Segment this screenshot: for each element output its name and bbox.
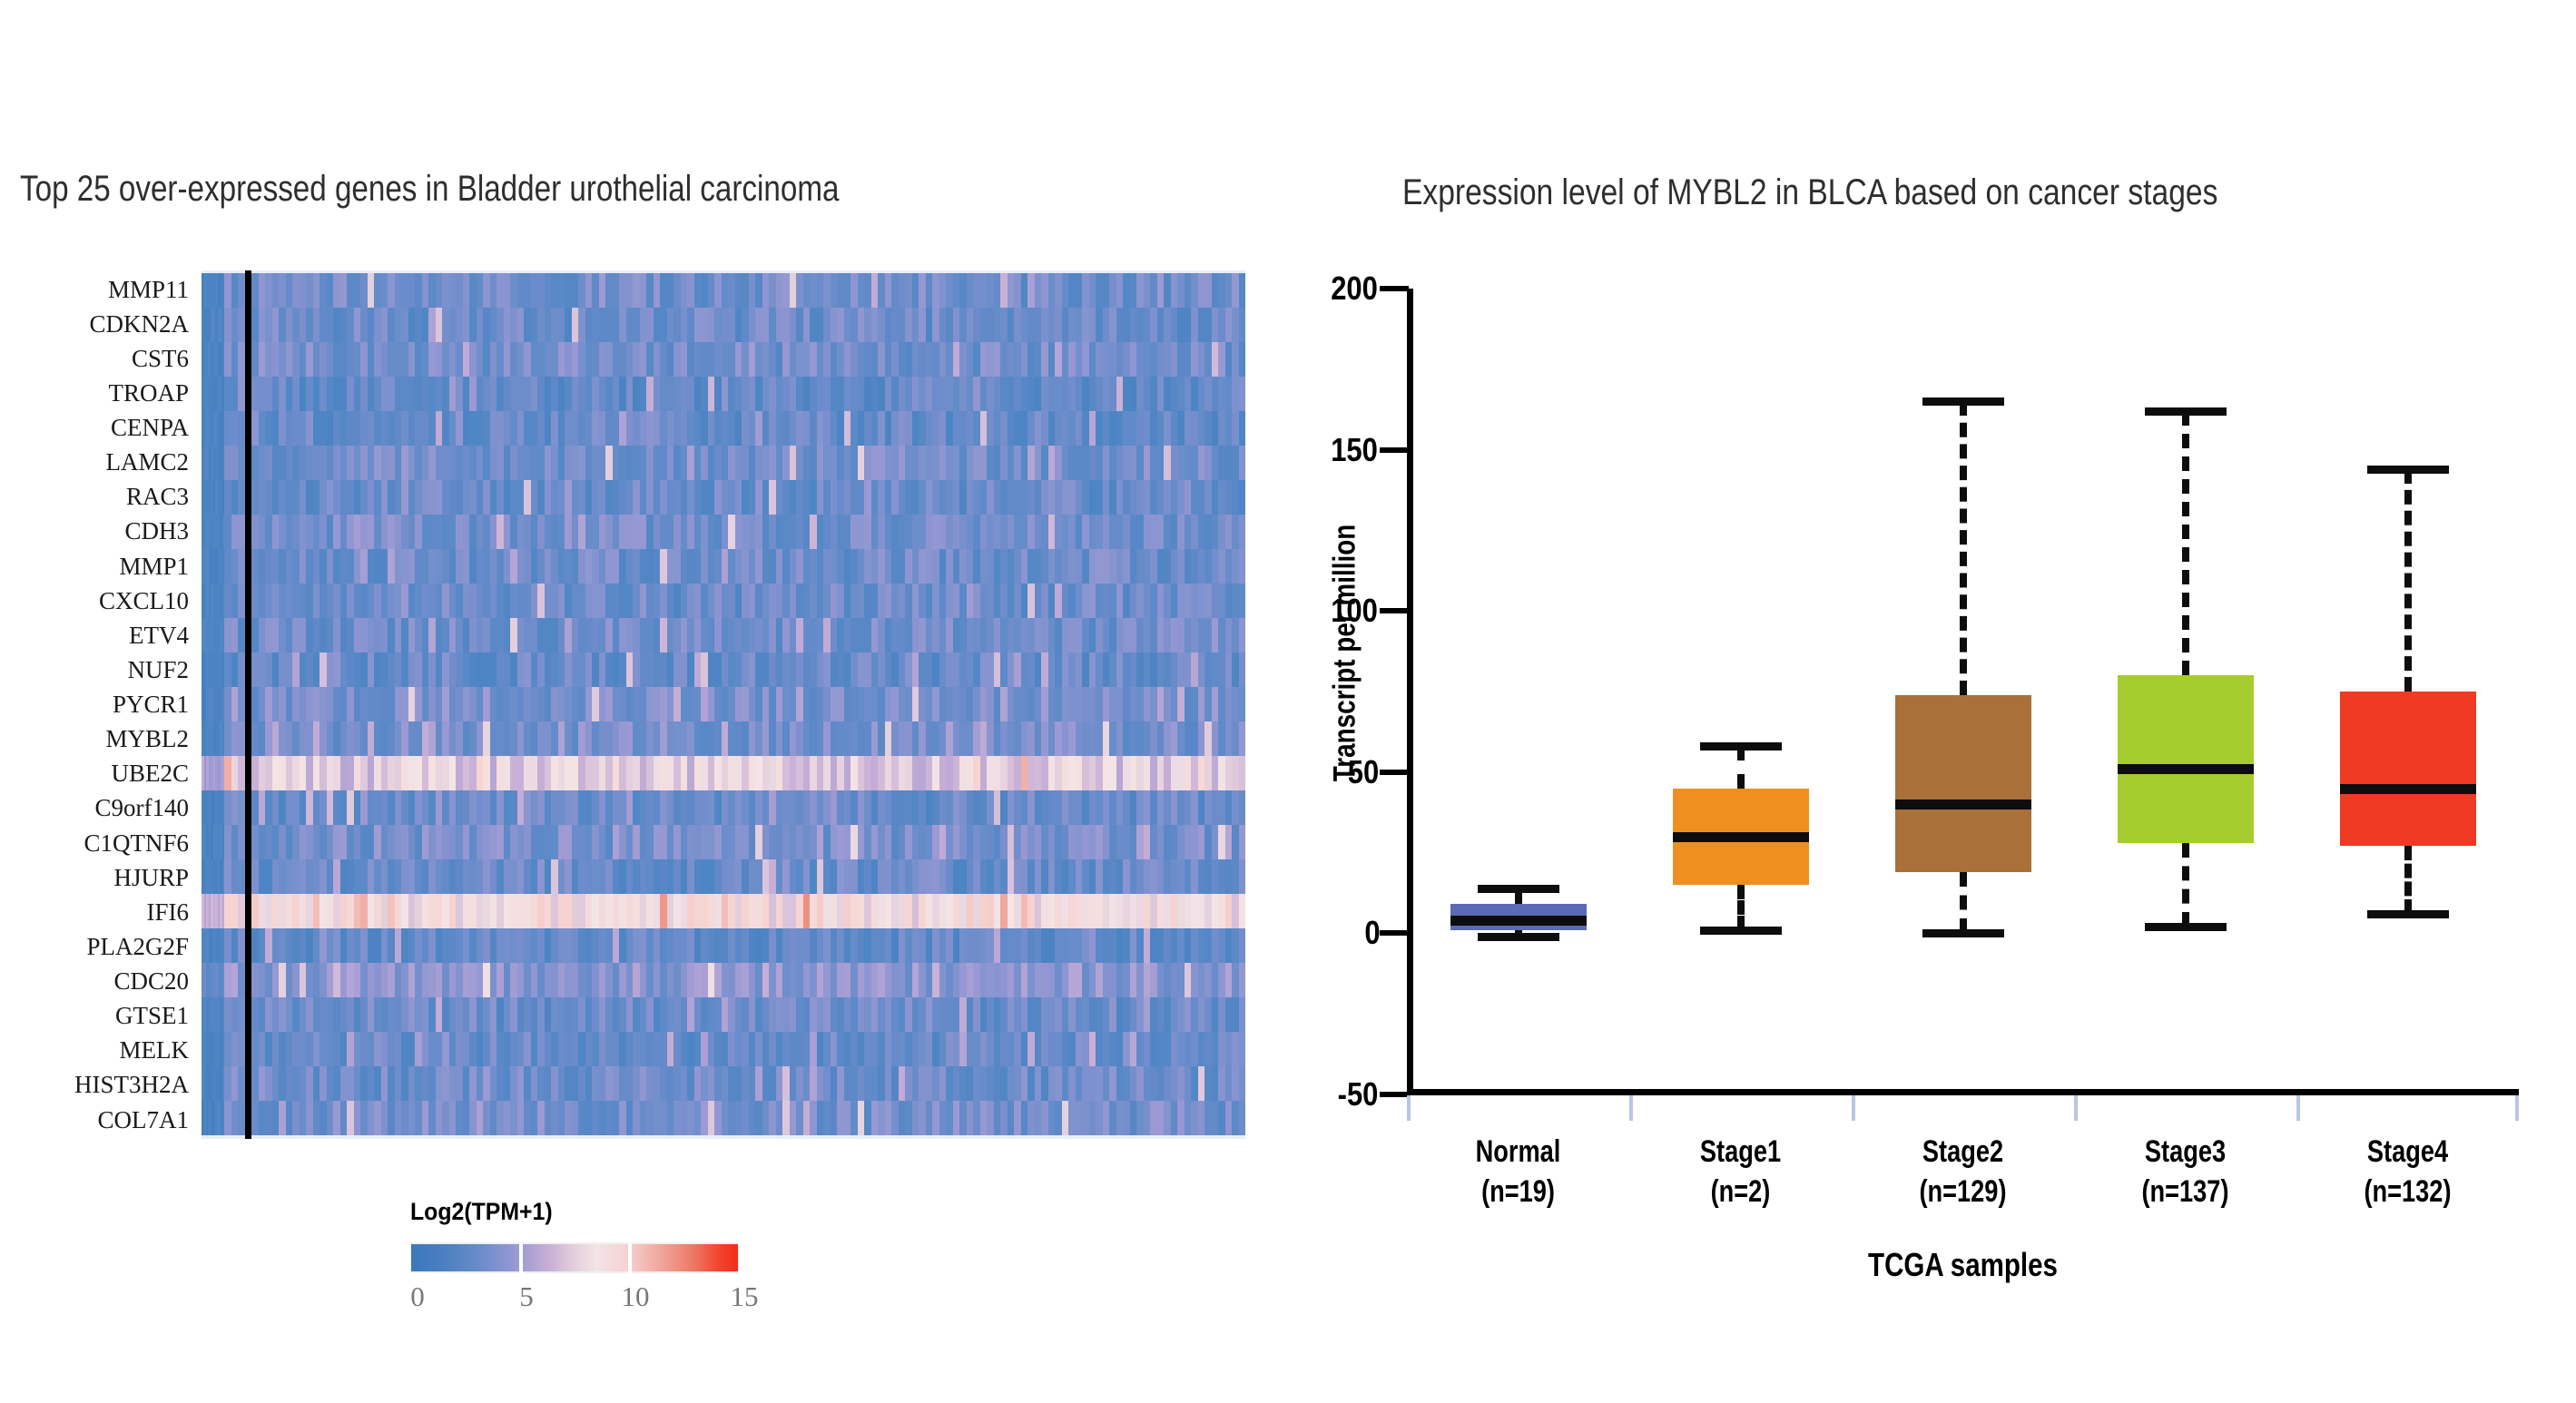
heatmap-cell <box>1000 584 1008 618</box>
heatmap-cell <box>565 584 572 618</box>
heatmap-cell <box>687 480 694 515</box>
heatmap-cell <box>905 928 912 963</box>
heatmap-cell <box>1123 411 1130 446</box>
heatmap-cell <box>531 584 538 618</box>
heatmap-cell <box>572 273 579 308</box>
heatmap-cell <box>694 308 702 342</box>
heatmap-cell <box>238 584 245 618</box>
heatmap-cell <box>946 1066 953 1101</box>
heatmap-cell <box>1136 997 1144 1032</box>
heatmap-cell <box>646 515 654 549</box>
heatmap-cell <box>1218 963 1225 997</box>
heatmap-cell <box>578 997 585 1032</box>
heatmap-cell <box>1218 342 1225 377</box>
heatmap-cell <box>279 515 286 549</box>
heatmap-cell <box>422 1101 429 1135</box>
heatmap-cell <box>272 1032 280 1066</box>
heatmap-cell <box>654 721 661 756</box>
heatmap-cell <box>286 480 293 515</box>
heatmap-cell <box>817 997 824 1032</box>
heatmap-cell <box>456 1101 463 1135</box>
heatmap-cell <box>360 1032 368 1066</box>
heatmap-cell <box>742 515 749 549</box>
heatmap-cell <box>1082 687 1089 721</box>
heatmap-cell <box>231 687 239 721</box>
heatmap-cell <box>980 480 988 515</box>
heatmap-cell <box>1076 515 1083 549</box>
lower-whisker <box>2404 846 2412 914</box>
heatmap-cell <box>912 928 919 963</box>
heatmap-cell <box>980 1066 988 1101</box>
heatmap-cell <box>782 480 790 515</box>
heatmap-cell <box>360 756 368 790</box>
heatmap-cell <box>1136 825 1144 859</box>
heatmap-cell <box>980 1032 988 1066</box>
heatmap-cell <box>1191 825 1198 859</box>
heatmap-cell <box>551 549 558 584</box>
heatmap-cell <box>626 790 634 825</box>
heatmap-cell <box>946 618 953 652</box>
heatmap-cell <box>864 894 871 928</box>
heatmap-cell <box>436 790 443 825</box>
heatmap-cell <box>1096 756 1103 790</box>
heatmap-cell <box>810 928 817 963</box>
heatmap-cell <box>1014 584 1021 618</box>
heatmap-cell <box>790 584 797 618</box>
heatmap-cell <box>891 446 899 480</box>
heatmap-cell <box>831 411 838 446</box>
heatmap-cell <box>395 859 402 894</box>
heatmap-cell <box>1068 1032 1076 1066</box>
heatmap-cell <box>279 859 286 894</box>
heatmap-cell <box>1177 411 1185 446</box>
heatmap-cell <box>442 756 449 790</box>
heatmap-cell <box>354 894 361 928</box>
heatmap-cell <box>987 515 994 549</box>
heatmap-cell <box>599 894 606 928</box>
heatmap-cell <box>626 997 634 1032</box>
heatmap-cell <box>1103 1101 1110 1135</box>
heatmap-cell <box>313 342 320 377</box>
heatmap-cell <box>592 515 599 549</box>
heatmap-cell <box>722 515 729 549</box>
heatmap-cell <box>1239 790 1246 825</box>
heatmap-cell <box>497 273 504 308</box>
heatmap-cell <box>286 963 293 997</box>
heatmap-cell <box>1068 618 1076 652</box>
heatmap-cell <box>259 618 266 652</box>
heatmap-cell <box>959 342 967 377</box>
heatmap-cell <box>306 928 313 963</box>
heatmap-cell <box>1076 1066 1083 1101</box>
heatmap-cell <box>279 928 286 963</box>
heatmap-cell <box>599 308 606 342</box>
heatmap-cell <box>932 342 939 377</box>
heatmap-cell <box>714 549 722 584</box>
heatmap-cell <box>810 652 817 687</box>
heatmap-cell <box>708 997 715 1032</box>
heatmap-cell <box>537 342 545 377</box>
heatmap-cell <box>619 584 626 618</box>
heatmap-cell <box>749 273 756 308</box>
heatmap-cell <box>1164 342 1171 377</box>
heatmap-cell <box>572 342 579 377</box>
heatmap-cell <box>953 928 960 963</box>
heatmap-cell <box>231 618 239 652</box>
heatmap-cell <box>272 928 280 963</box>
heatmap-cell <box>708 790 715 825</box>
heatmap-cell <box>831 446 838 480</box>
heatmap-cell <box>1157 963 1165 997</box>
heatmap-cell <box>796 859 803 894</box>
heatmap-cell <box>572 377 579 411</box>
heatmap-cell <box>531 549 538 584</box>
heatmap-cell <box>796 997 803 1032</box>
heatmap-cell <box>449 963 457 997</box>
heatmap-cell <box>313 997 320 1032</box>
heatmap-cell <box>681 1032 688 1066</box>
heatmap-cell <box>265 963 272 997</box>
heatmap-cell <box>708 549 715 584</box>
heatmap-cell <box>442 652 449 687</box>
heatmap-cell <box>599 342 606 377</box>
heatmap-cell <box>899 480 906 515</box>
heatmap-cell <box>899 963 906 997</box>
heatmap-cell <box>292 584 300 618</box>
heatmap-cell <box>320 859 327 894</box>
heatmap-cell <box>1185 721 1192 756</box>
heatmap-cell <box>980 997 988 1032</box>
heatmap-cell <box>354 997 361 1032</box>
heatmap-cell <box>578 377 585 411</box>
heatmap-cell <box>728 377 735 411</box>
heatmap-cell <box>1130 584 1137 618</box>
heatmap-cell <box>572 1066 579 1101</box>
heatmap-cell <box>714 721 722 756</box>
heatmap-cell <box>1157 756 1165 790</box>
heatmap-cell <box>1103 446 1110 480</box>
heatmap-cell <box>1068 652 1076 687</box>
heatmap-cell <box>286 446 293 480</box>
heatmap-cell <box>1000 480 1008 515</box>
heatmap-cell <box>300 480 307 515</box>
heatmap-cell <box>360 618 368 652</box>
heatmap-cell <box>959 515 967 549</box>
heatmap-cell <box>1212 790 1219 825</box>
heatmap-cell <box>1089 790 1096 825</box>
heatmap-cell <box>490 377 497 411</box>
heatmap-cell <box>850 549 858 584</box>
heatmap-cell <box>469 515 477 549</box>
heatmap-cell <box>599 584 606 618</box>
heatmap-cell <box>1185 377 1192 411</box>
heatmap-cell <box>360 928 368 963</box>
gene-label: CENPA <box>9 411 191 446</box>
heatmap-cell <box>537 549 545 584</box>
heatmap-cell <box>714 584 722 618</box>
heatmap-cell <box>735 1066 742 1101</box>
heatmap-cell <box>1198 308 1205 342</box>
heatmap-cell <box>1068 894 1076 928</box>
heatmap-cell <box>1144 411 1151 446</box>
heatmap-cell <box>708 480 715 515</box>
heatmap-cell <box>864 342 871 377</box>
heatmap-cell <box>1232 549 1239 584</box>
heatmap-cell <box>436 549 443 584</box>
heatmap-cell <box>660 1101 667 1135</box>
heatmap-cell <box>1068 342 1076 377</box>
heatmap-cell <box>374 1101 381 1135</box>
heatmap-cell <box>1000 411 1008 446</box>
upper-whisker-cap <box>1700 742 1782 751</box>
heatmap-cell <box>1212 480 1219 515</box>
heatmap-cell <box>415 273 422 308</box>
heatmap-cell <box>592 1101 599 1135</box>
heatmap-cell <box>599 480 606 515</box>
heatmap-cell <box>926 1066 933 1101</box>
heatmap-cell <box>605 377 613 411</box>
heatmap-row <box>202 342 1245 377</box>
heatmap-cell <box>796 928 803 963</box>
heatmap-cell <box>517 928 525 963</box>
heatmap-cell <box>633 859 640 894</box>
heatmap-cell <box>817 584 824 618</box>
heatmap-cell <box>524 790 531 825</box>
heatmap-cell <box>333 480 340 515</box>
heatmap-cell <box>517 515 525 549</box>
heatmap-cell <box>469 342 477 377</box>
heatmap-row <box>202 652 1245 687</box>
heatmap-cell <box>1123 584 1130 618</box>
heatmap-cell <box>871 446 879 480</box>
heatmap-cell <box>837 480 844 515</box>
heatmap-cell <box>231 963 239 997</box>
heatmap-cell <box>1150 928 1157 963</box>
heatmap-cell <box>531 618 538 652</box>
heatmap-cell <box>967 515 974 549</box>
heatmap-cell <box>313 825 320 859</box>
heatmap-cell <box>306 756 313 790</box>
heatmap-cell <box>224 721 231 756</box>
heatmap-cell <box>605 790 613 825</box>
heatmap-cell <box>919 687 926 721</box>
heatmap-cell <box>1035 721 1042 756</box>
heatmap-cell <box>1062 273 1069 308</box>
category-sample-count: (n=2) <box>1652 1172 1830 1212</box>
heatmap-cell <box>286 756 293 790</box>
heatmap-cell <box>306 273 313 308</box>
heatmap-cell <box>422 342 429 377</box>
heatmap-cell <box>640 859 647 894</box>
heatmap-cell <box>524 687 531 721</box>
heatmap-cell <box>585 515 593 549</box>
heatmap-cell <box>1144 825 1151 859</box>
heatmap-cell <box>769 446 776 480</box>
heatmap-cell <box>1062 618 1069 652</box>
heatmap-cell <box>878 446 885 480</box>
heatmap-cell <box>776 687 783 721</box>
heatmap-cell <box>640 825 647 859</box>
heatmap-cell <box>1239 308 1246 342</box>
heatmap-cell <box>1177 756 1185 790</box>
heatmap-cell <box>973 1032 980 1066</box>
heatmap-cell <box>885 825 892 859</box>
heatmap-cell <box>1082 825 1089 859</box>
heatmap-cell <box>1103 687 1110 721</box>
heatmap-cell <box>844 273 851 308</box>
heatmap-cell <box>592 1032 599 1066</box>
heatmap-cell <box>1123 859 1130 894</box>
heatmap-cell <box>442 859 449 894</box>
heatmap-cell <box>953 963 960 997</box>
heatmap-cell <box>1157 687 1165 721</box>
heatmap-cell <box>1055 446 1062 480</box>
heatmap-row <box>202 515 1245 549</box>
heatmap-cell <box>687 756 694 790</box>
heatmap-cell <box>654 377 661 411</box>
heatmap-cell <box>755 963 762 997</box>
heatmap-cell <box>633 963 640 997</box>
heatmap-cell <box>415 584 422 618</box>
heatmap-cell <box>1096 687 1103 721</box>
heatmap-cell <box>850 480 858 515</box>
heatmap-cell <box>1000 273 1008 308</box>
heatmap-cell <box>510 1066 517 1101</box>
heatmap-cell <box>1232 825 1239 859</box>
heatmap-cell <box>360 308 368 342</box>
heatmap-cell <box>932 1066 939 1101</box>
heatmap-cell <box>572 1032 579 1066</box>
heatmap-cell <box>313 652 320 687</box>
heatmap-cell <box>306 997 313 1032</box>
heatmap-cell <box>388 928 395 963</box>
heatmap-cell <box>374 515 381 549</box>
heatmap-cell <box>1185 515 1192 549</box>
heatmap-cell <box>640 790 647 825</box>
heatmap-cell <box>504 273 511 308</box>
heatmap-cell <box>1225 1032 1233 1066</box>
heatmap-cell <box>572 721 579 756</box>
heatmap-cell <box>1041 790 1048 825</box>
heatmap-cell <box>1136 652 1144 687</box>
heatmap-cell <box>633 997 640 1032</box>
heatmap-cell <box>401 308 408 342</box>
heatmap-cell <box>551 756 558 790</box>
heatmap-cell <box>899 308 906 342</box>
heatmap-cell <box>899 411 906 446</box>
heatmap-cell <box>817 928 824 963</box>
heatmap-cell <box>973 584 980 618</box>
heatmap-cell <box>1082 859 1089 894</box>
heatmap-cell <box>1008 756 1015 790</box>
heatmap-cell <box>613 790 620 825</box>
heatmap-cell <box>449 859 457 894</box>
heatmap-cell <box>817 1066 824 1101</box>
heatmap-cell <box>831 894 838 928</box>
heatmap-row <box>202 480 1245 515</box>
heatmap-cell <box>953 652 960 687</box>
heatmap-cell <box>565 825 572 859</box>
heatmap-cell <box>1177 515 1185 549</box>
heatmap-cell <box>1021 549 1028 584</box>
heatmap-cell <box>592 480 599 515</box>
heatmap-cell <box>817 721 824 756</box>
heatmap-cell <box>306 825 313 859</box>
heatmap-cell <box>926 308 933 342</box>
heatmap-cell <box>939 721 947 756</box>
heatmap-cell <box>831 342 838 377</box>
heatmap-cell <box>667 721 674 756</box>
heatmap-cell <box>619 894 626 928</box>
heatmap-cell <box>728 652 735 687</box>
heatmap-cell <box>831 928 838 963</box>
heatmap-cell <box>360 721 368 756</box>
heatmap-cell <box>490 308 497 342</box>
heatmap-cell <box>667 756 674 790</box>
heatmap-cell <box>469 997 477 1032</box>
heatmap-cell <box>517 997 525 1032</box>
heatmap-cell <box>959 1066 967 1101</box>
heatmap-cell <box>286 652 293 687</box>
heatmap-cell <box>368 446 375 480</box>
heatmap-cell <box>742 308 749 342</box>
heatmap-cell <box>1109 515 1116 549</box>
heatmap-cell <box>844 480 851 515</box>
heatmap-cell <box>646 549 654 584</box>
heatmap-cell <box>292 411 300 446</box>
heatmap-cell <box>769 308 776 342</box>
heatmap-cell <box>749 377 756 411</box>
heatmap-cell <box>694 756 702 790</box>
heatmap-cell <box>360 652 368 687</box>
x-axis-tick <box>1852 1095 1855 1121</box>
heatmap-cell <box>510 273 517 308</box>
heatmap-cell <box>967 859 974 894</box>
heatmap-cell <box>265 549 272 584</box>
heatmap-cell <box>279 1101 286 1135</box>
heatmap-cell <box>708 446 715 480</box>
heatmap-cell <box>613 618 620 652</box>
heatmap-cell <box>762 377 770 411</box>
heatmap-cell <box>401 687 408 721</box>
heatmap-cell <box>306 1101 313 1135</box>
heatmap-cell <box>1171 825 1178 859</box>
heatmap-cell <box>1150 515 1157 549</box>
heatmap-cell <box>823 342 831 377</box>
heatmap-cell <box>463 584 470 618</box>
heatmap-cell <box>1177 997 1185 1032</box>
heatmap-cell <box>517 584 525 618</box>
heatmap-cell <box>381 549 388 584</box>
heatmap-cell <box>510 1101 517 1135</box>
heatmap-cell <box>790 652 797 687</box>
heatmap-cell <box>292 549 300 584</box>
heatmap-cell <box>1068 411 1076 446</box>
heatmap-cell <box>619 687 626 721</box>
heatmap-cell <box>558 928 565 963</box>
heatmap-cell <box>401 618 408 652</box>
heatmap-cell <box>368 1066 375 1101</box>
heatmap-cell <box>1225 446 1233 480</box>
heatmap-cell <box>401 342 408 377</box>
heatmap-cell <box>980 377 988 411</box>
heatmap-cell <box>279 273 286 308</box>
heatmap-cell <box>1116 618 1124 652</box>
heatmap-cell <box>477 446 484 480</box>
heatmap-cell <box>354 549 361 584</box>
heatmap-cell <box>926 790 933 825</box>
heatmap-cell <box>687 273 694 308</box>
